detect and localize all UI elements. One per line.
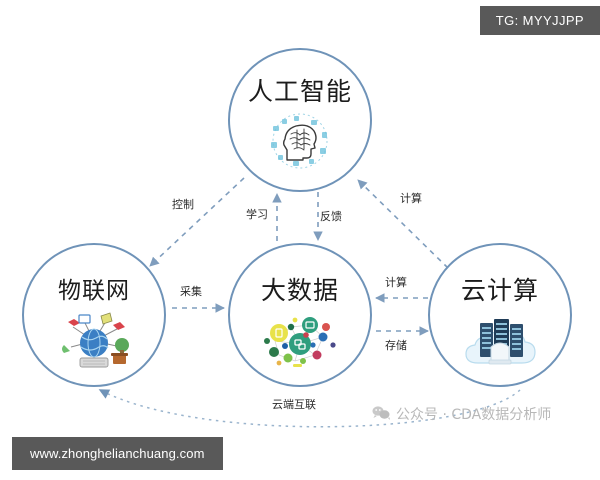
edge-label-collect: 采集 <box>180 283 202 299</box>
node-label-bigdata: 大数据 <box>261 271 339 307</box>
cloud-server-icon <box>458 311 542 376</box>
node-label-iot: 物联网 <box>58 271 130 305</box>
watermark: 公众号 · CDA数据分析师 <box>372 404 551 424</box>
brain-head-icon <box>263 112 337 175</box>
node-big-data[interactable]: 大数据 <box>228 243 372 387</box>
watermark-text: 公众号 · CDA数据分析师 <box>396 404 551 424</box>
edge-label-compute-cloud: 计算 <box>385 274 407 290</box>
edge-label-compute-ai: 计算 <box>400 190 422 206</box>
website-banner: www.zhonghelianchuang.com <box>12 437 223 470</box>
node-label-ai: 人工智能 <box>248 72 352 108</box>
node-artificial-intelligence[interactable]: 人工智能 <box>228 48 372 192</box>
edge-control-arrow <box>150 178 244 266</box>
diagram-canvas: 人工智能 <box>0 0 600 480</box>
data-cluster-icon <box>255 311 345 378</box>
telegram-banner: TG: MYYJJPP <box>480 6 600 35</box>
edge-label-cloudlink: 云端互联 <box>272 396 316 412</box>
node-internet-of-things[interactable]: 物联网 <box>22 243 166 387</box>
wechat-icon <box>372 405 392 424</box>
edge-label-storage: 存储 <box>385 337 407 353</box>
edge-label-control: 控制 <box>172 196 194 212</box>
node-cloud-computing[interactable]: 云计算 <box>428 243 572 387</box>
iot-globe-icon <box>51 309 137 376</box>
node-label-cloud: 云计算 <box>461 271 539 307</box>
edge-label-feedback: 反馈 <box>320 208 342 224</box>
edge-label-learn: 学习 <box>246 206 268 222</box>
